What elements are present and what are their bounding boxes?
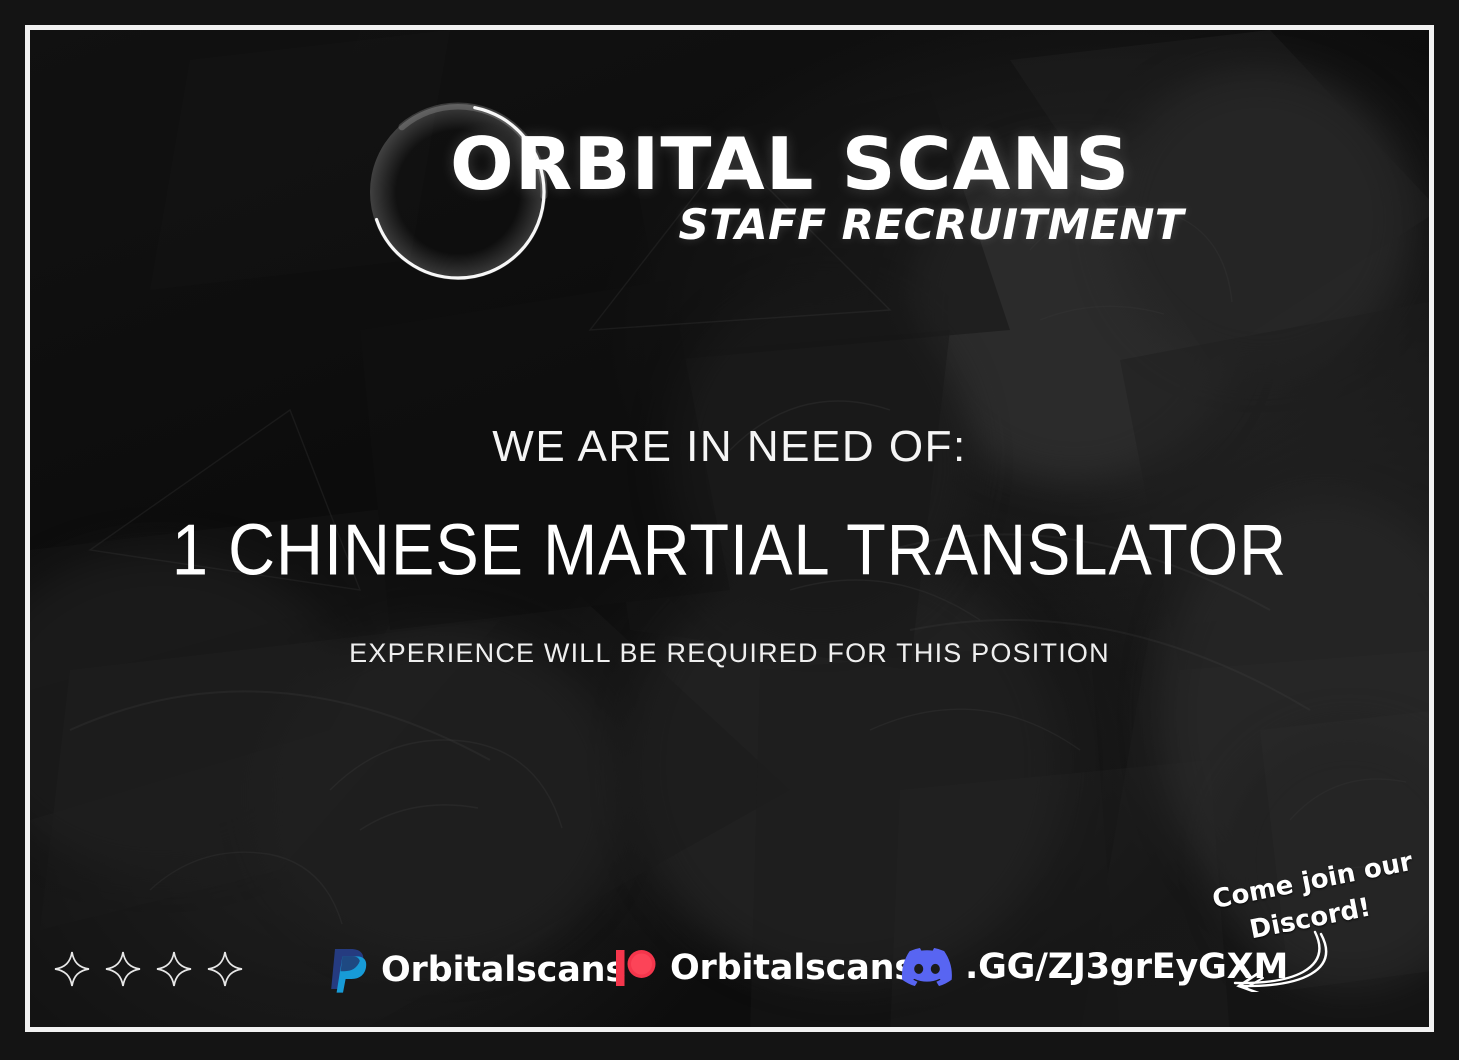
wordmark: ORBITAL SCANS STAFF RECRUITMENT — [450, 128, 1190, 246]
sparkle-row — [52, 949, 245, 989]
announcement-intro: WE ARE IN NEED OF: — [30, 425, 1429, 469]
sparkle-icon — [205, 949, 245, 989]
brand-header: ORBITAL SCANS STAFF RECRUITMENT — [30, 68, 1429, 278]
sparkle-icon — [154, 949, 194, 989]
social-label: Orbitalscans — [381, 953, 626, 988]
recruitment-poster: ORBITAL SCANS STAFF RECRUITMENT WE ARE I… — [0, 0, 1459, 1060]
social-link-paypal[interactable]: Orbitalscans — [330, 947, 626, 993]
patreon-icon — [615, 947, 657, 989]
announcement-block: WE ARE IN NEED OF: 1 CHINESE MARTIAL TRA… — [30, 425, 1429, 667]
social-link-patreon[interactable]: Orbitalscans — [615, 947, 915, 989]
discord-icon — [902, 947, 952, 987]
paypal-icon — [330, 947, 368, 993]
announcement-requirement: EXPERIENCE WILL BE REQUIRED FOR THIS POS… — [30, 640, 1429, 667]
announcement-role: 1 CHINESE MARTIAL TRANSLATOR — [30, 513, 1429, 586]
brand-title: ORBITAL SCANS — [450, 128, 1220, 200]
curved-arrow-down-left-icon — [1211, 930, 1341, 992]
poster-frame: ORBITAL SCANS STAFF RECRUITMENT WE ARE I… — [25, 25, 1434, 1032]
sparkle-icon — [103, 949, 143, 989]
social-label: Orbitalscans — [670, 951, 915, 986]
discord-callout: Come join our Discord! — [1205, 860, 1415, 985]
brand-subtitle: STAFF RECRUITMENT — [450, 204, 1190, 246]
sparkle-icon — [52, 949, 92, 989]
